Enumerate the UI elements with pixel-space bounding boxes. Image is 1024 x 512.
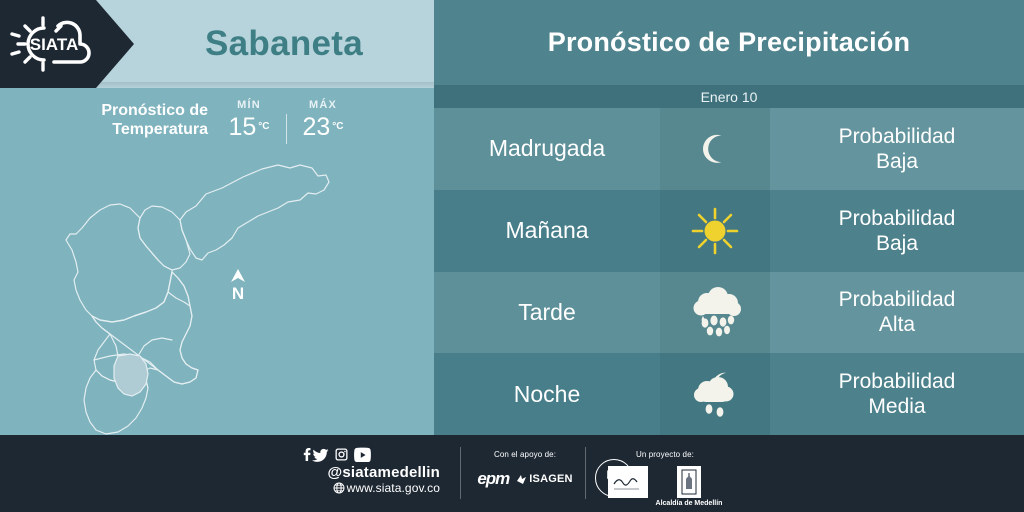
support-logos: epm ISAGEN	[470, 469, 580, 489]
alcaldia-shield-icon	[677, 466, 701, 498]
footer-divider-1	[460, 447, 461, 499]
temperature-separator	[286, 114, 287, 144]
temperature-max: MÁX 23°C	[292, 98, 354, 142]
probability-line2: Baja	[876, 149, 918, 174]
moon-rain-cloud-icon	[660, 353, 770, 435]
support-block: Con el apoyo de: epm ISAGEN	[470, 449, 580, 489]
website-url[interactable]: www.siata.gov.co	[347, 481, 440, 495]
temperature-max-caption: MÁX	[292, 98, 354, 112]
rain-cloud-icon	[660, 272, 770, 354]
map-highlight-sabaneta	[114, 354, 148, 396]
temperature-values: MÍN 15°C MÁX 23°C	[218, 98, 368, 156]
municipality-map	[0, 150, 434, 435]
twitter-icon	[312, 449, 329, 462]
probability-line2: Alta	[879, 312, 915, 337]
temperature-min-unit: °C	[258, 121, 269, 132]
period-label: Noche	[434, 353, 660, 435]
compass-rose: N	[225, 268, 251, 306]
probability-line1: Probabilidad	[839, 287, 956, 312]
table-row: Madrugada Probabilidad Baja	[434, 108, 1024, 190]
probability-cell: Probabilidad Media	[770, 353, 1024, 435]
website-line[interactable]: www.siata.gov.co	[300, 481, 440, 496]
probability-line1: Probabilidad	[839, 206, 956, 231]
period-label: Tarde	[434, 272, 660, 354]
precipitation-title: Pronóstico de Precipitación	[434, 0, 1024, 85]
probability-line1: Probabilidad	[839, 369, 956, 394]
forecast-table: Madrugada Probabilidad Baja Mañana	[434, 108, 1024, 435]
social-icons	[300, 447, 440, 462]
siata-logo-text: SIATA	[30, 35, 78, 54]
temperature-label-line1: Pronóstico de	[101, 102, 208, 119]
temperature-max-value: 23	[302, 112, 330, 142]
temperature-label-line2: Temperatura	[112, 121, 208, 138]
epm-logo: epm	[477, 469, 509, 489]
project-caption: Un proyecto de:	[595, 449, 735, 460]
facebook-icon	[304, 448, 311, 461]
project-logos: Alcaldía de Medellín	[595, 466, 735, 507]
siata-logo: SIATA	[10, 12, 102, 76]
moon-icon	[660, 108, 770, 190]
period-label: Madrugada	[434, 108, 660, 190]
isagen-mark-icon	[516, 474, 527, 485]
globe-icon	[333, 482, 345, 494]
support-caption: Con el apoyo de:	[470, 449, 580, 460]
alcaldia-label: Alcaldía de Medellín	[656, 500, 723, 507]
temperature-min-caption: MÍN	[218, 98, 280, 112]
table-row: Noche	[434, 353, 1024, 435]
temperature-label: Pronóstico de Temperatura	[60, 101, 208, 139]
table-row: Mañana	[434, 190, 1024, 272]
forecast-date: Enero 10	[434, 85, 1024, 108]
temperature-forecast: Pronóstico de Temperatura MÍN 15°C MÁX 2…	[60, 98, 360, 156]
sun-icon	[660, 190, 770, 272]
probability-line1: Probabilidad	[839, 124, 956, 149]
temperature-min: MÍN 15°C	[218, 98, 280, 142]
isagen-logo: ISAGEN	[529, 473, 572, 485]
probability-line2: Media	[868, 394, 925, 419]
compass-north-label: N	[225, 285, 251, 303]
project-block: Un proyecto de:	[595, 449, 735, 507]
probability-cell: Probabilidad Alta	[770, 272, 1024, 354]
probability-line2: Baja	[876, 231, 918, 256]
instagram-icon	[336, 449, 348, 461]
infographic-root: SIATA Sabaneta Pronóstico de Temperatura…	[0, 0, 1024, 512]
temperature-min-value: 15	[228, 112, 256, 142]
youtube-icon	[354, 448, 371, 462]
social-block: @siatamedellin www.siata.gov.co	[300, 447, 440, 501]
right-panel: Pronóstico de Precipitación Enero 10 Mad…	[434, 0, 1024, 435]
table-row: Tarde	[434, 272, 1024, 354]
footer: @siatamedellin www.siata.gov.co Con el a…	[0, 435, 1024, 512]
probability-cell: Probabilidad Baja	[770, 190, 1024, 272]
probability-cell: Probabilidad Baja	[770, 108, 1024, 190]
area-metropolitana-logo	[608, 466, 648, 498]
footer-divider-2	[585, 447, 586, 499]
period-label: Mañana	[434, 190, 660, 272]
social-handle[interactable]: @siatamedellin	[300, 464, 440, 481]
page-title: Sabaneta	[134, 0, 434, 88]
left-panel: SIATA Sabaneta Pronóstico de Temperatura…	[0, 0, 434, 435]
temperature-max-unit: °C	[332, 121, 343, 132]
